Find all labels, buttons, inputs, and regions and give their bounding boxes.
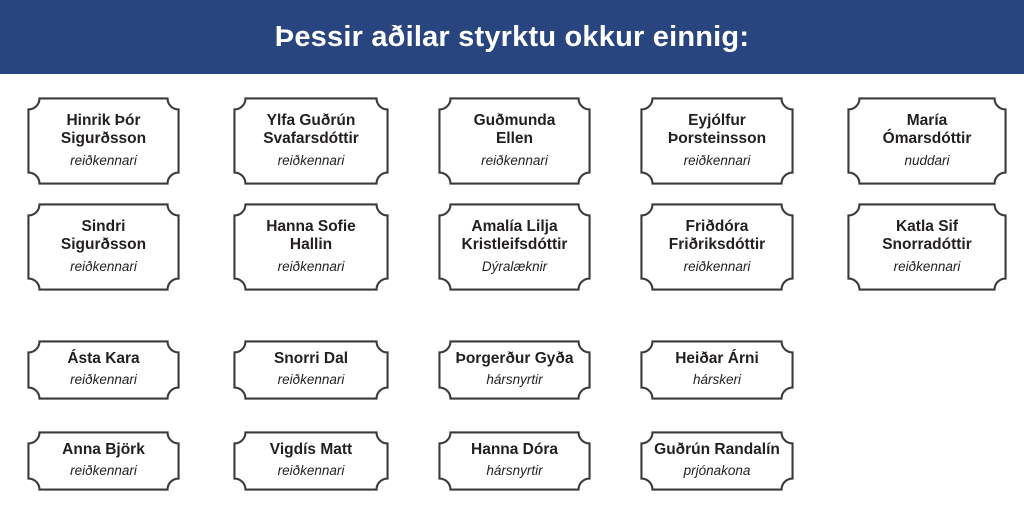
card-person-role: reiðkennari xyxy=(278,153,345,169)
card-person-role: reiðkennari xyxy=(70,463,137,479)
sponsor-card: Guðmunda Ellenreiðkennari xyxy=(438,97,591,185)
card-person-name: Ylfa Guðrún Svafarsdóttir xyxy=(263,112,359,148)
card-person-name: Eyjólfur Þorsteinsson xyxy=(668,112,766,148)
sponsor-card: Sindri Sigurðssonreiðkennari xyxy=(27,203,180,291)
sponsor-card: Þorgerður Gyðahársnyrtir xyxy=(438,340,591,400)
card-person-name: Sindri Sigurðsson xyxy=(61,218,146,254)
card-content: Hanna Dórahársnyrtir xyxy=(438,431,591,491)
sponsor-card: Eyjólfur Þorsteinssonreiðkennari xyxy=(640,97,794,185)
card-person-name: Hinrik Þór Sigurðsson xyxy=(61,112,146,148)
card-content: Amalía Lilja KristleifsdóttirDýralæknir xyxy=(438,203,591,291)
card-person-role: prjónakona xyxy=(684,463,751,479)
card-person-name: Snorri Dal xyxy=(274,350,348,368)
card-person-role: nuddari xyxy=(904,153,949,169)
sponsor-card: Hanna Sofie Hallinreiðkennari xyxy=(233,203,389,291)
sponsor-board: Þessir aðilar styrktu okkur einnig: Hinr… xyxy=(0,0,1024,512)
card-content: Þorgerður Gyðahársnyrtir xyxy=(438,340,591,400)
sponsor-card: Guðrún Randalínprjónakona xyxy=(640,431,794,491)
card-person-name: Guðmunda Ellen xyxy=(474,112,556,148)
card-person-role: hársnyrtir xyxy=(486,463,542,479)
sponsor-card: Ylfa Guðrún Svafarsdóttirreiðkennari xyxy=(233,97,389,185)
sponsor-card: Anna Björkreiðkennari xyxy=(27,431,180,491)
card-person-role: reiðkennari xyxy=(70,372,137,388)
card-content: Guðmunda Ellenreiðkennari xyxy=(438,97,591,185)
card-person-role: reiðkennari xyxy=(278,372,345,388)
card-person-name: Anna Björk xyxy=(62,441,145,459)
card-person-name: Vigdís Matt xyxy=(270,441,352,459)
card-content: María Ómarsdóttirnuddari xyxy=(847,97,1007,185)
sponsor-card: Friðdóra Friðriksdóttirreiðkennari xyxy=(640,203,794,291)
card-person-role: reiðkennari xyxy=(70,259,137,275)
sponsor-card: María Ómarsdóttirnuddari xyxy=(847,97,1007,185)
card-content: Hinrik Þór Sigurðssonreiðkennari xyxy=(27,97,180,185)
sponsor-card: Heiðar Árnihárskeri xyxy=(640,340,794,400)
card-person-role: hársnyrtir xyxy=(486,372,542,388)
card-person-role: reiðkennari xyxy=(70,153,137,169)
card-person-role: reiðkennari xyxy=(278,259,345,275)
sponsor-card: Vigdís Mattreiðkennari xyxy=(233,431,389,491)
card-content: Friðdóra Friðriksdóttirreiðkennari xyxy=(640,203,794,291)
card-person-role: hárskeri xyxy=(693,372,741,388)
header-banner: Þessir aðilar styrktu okkur einnig: xyxy=(0,0,1024,74)
card-person-role: reiðkennari xyxy=(278,463,345,479)
card-content: Katla Sif Snorradóttirreiðkennari xyxy=(847,203,1007,291)
card-person-role: reiðkennari xyxy=(684,259,751,275)
page-title: Þessir aðilar styrktu okkur einnig: xyxy=(275,23,749,52)
card-content: Ásta Karareiðkennari xyxy=(27,340,180,400)
sponsor-card: Hanna Dórahársnyrtir xyxy=(438,431,591,491)
sponsor-card-grid: Hinrik Þór SigurðssonreiðkennariYlfa Guð… xyxy=(0,74,1024,512)
card-person-name: María Ómarsdóttir xyxy=(883,112,972,148)
card-person-name: Guðrún Randalín xyxy=(654,441,780,459)
card-person-name: Heiðar Árni xyxy=(675,350,759,368)
card-person-role: reiðkennari xyxy=(894,259,961,275)
card-person-role: Dýralæknir xyxy=(482,259,547,275)
card-person-role: reiðkennari xyxy=(481,153,548,169)
card-person-name: Katla Sif Snorradóttir xyxy=(882,218,972,254)
card-content: Ylfa Guðrún Svafarsdóttirreiðkennari xyxy=(233,97,389,185)
sponsor-card: Ásta Karareiðkennari xyxy=(27,340,180,400)
card-person-name: Hanna Sofie Hallin xyxy=(266,218,356,254)
card-content: Guðrún Randalínprjónakona xyxy=(640,431,794,491)
card-person-name: Friðdóra Friðriksdóttir xyxy=(669,218,765,254)
sponsor-card: Snorri Dalreiðkennari xyxy=(233,340,389,400)
card-content: Heiðar Árnihárskeri xyxy=(640,340,794,400)
card-content: Sindri Sigurðssonreiðkennari xyxy=(27,203,180,291)
card-content: Eyjólfur Þorsteinssonreiðkennari xyxy=(640,97,794,185)
card-person-name: Amalía Lilja Kristleifsdóttir xyxy=(462,218,568,254)
card-content: Vigdís Mattreiðkennari xyxy=(233,431,389,491)
card-person-role: reiðkennari xyxy=(684,153,751,169)
card-content: Snorri Dalreiðkennari xyxy=(233,340,389,400)
sponsor-card: Hinrik Þór Sigurðssonreiðkennari xyxy=(27,97,180,185)
sponsor-card: Amalía Lilja KristleifsdóttirDýralæknir xyxy=(438,203,591,291)
card-content: Hanna Sofie Hallinreiðkennari xyxy=(233,203,389,291)
card-content: Anna Björkreiðkennari xyxy=(27,431,180,491)
card-person-name: Þorgerður Gyða xyxy=(456,350,574,368)
sponsor-card: Katla Sif Snorradóttirreiðkennari xyxy=(847,203,1007,291)
card-person-name: Hanna Dóra xyxy=(471,441,558,459)
card-person-name: Ásta Kara xyxy=(67,350,139,368)
